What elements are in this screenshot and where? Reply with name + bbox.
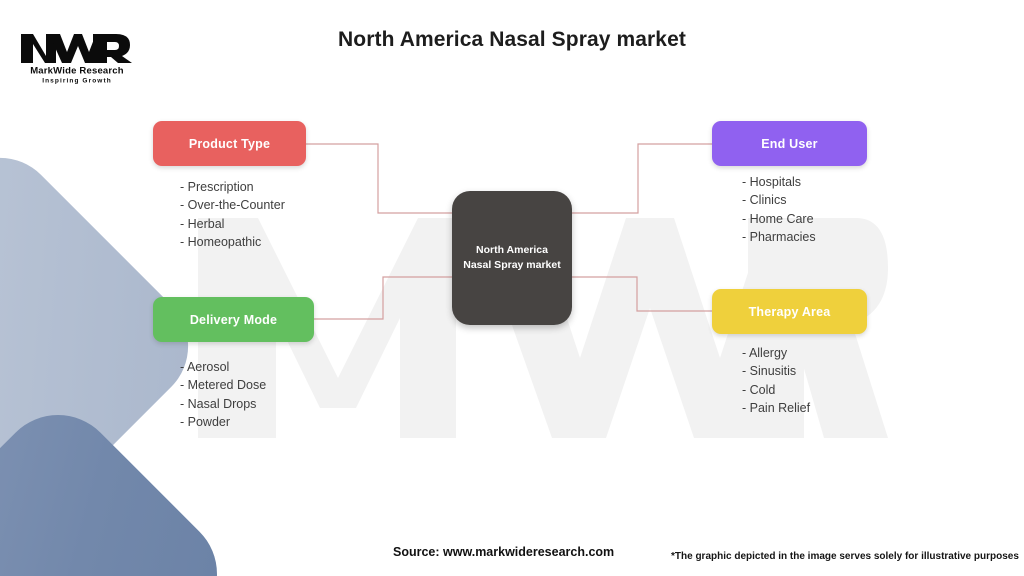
list-item: - Aerosol (180, 358, 266, 376)
node-delivery-mode[interactable]: Delivery Mode (153, 297, 314, 342)
node-label: Delivery Mode (190, 313, 277, 327)
list-item: - Home Care (742, 210, 816, 228)
list-delivery-mode: - Aerosol - Metered Dose - Nasal Drops -… (180, 358, 266, 432)
list-end-user: - Hospitals - Clinics - Home Care - Phar… (742, 173, 816, 247)
list-item: - Metered Dose (180, 376, 266, 394)
list-item: - Homeopathic (180, 233, 285, 251)
list-item: - Sinusitis (742, 362, 810, 380)
node-label: End User (761, 137, 817, 151)
list-item: - Prescription (180, 178, 285, 196)
list-item: - Allergy (742, 344, 810, 362)
node-label: Product Type (189, 137, 270, 151)
list-item: - Over-the-Counter (180, 196, 285, 214)
list-product-type: - Prescription - Over-the-Counter - Herb… (180, 178, 285, 252)
node-end-user[interactable]: End User (712, 121, 867, 166)
list-item: - Nasal Drops (180, 395, 266, 413)
infographic-canvas: MarkWide Research Inspiring Growth North… (0, 0, 1024, 576)
node-therapy-area[interactable]: Therapy Area (712, 289, 867, 334)
source-label[interactable]: Source: www.markwideresearch.com (393, 545, 614, 559)
node-label: Therapy Area (749, 305, 831, 319)
list-therapy-area: - Allergy - Sinusitis - Cold - Pain Reli… (742, 344, 810, 418)
list-item: - Pharmacies (742, 228, 816, 246)
node-center-label: North America Nasal Spray market (462, 243, 562, 273)
disclaimer-note: *The graphic depicted in the image serve… (671, 551, 1019, 562)
list-item: - Pain Relief (742, 399, 810, 417)
node-center-market[interactable]: North America Nasal Spray market (452, 191, 572, 325)
list-item: - Cold (742, 381, 810, 399)
list-item: - Powder (180, 413, 266, 431)
node-product-type[interactable]: Product Type (153, 121, 306, 166)
list-item: - Herbal (180, 215, 285, 233)
list-item: - Hospitals (742, 173, 816, 191)
list-item: - Clinics (742, 191, 816, 209)
